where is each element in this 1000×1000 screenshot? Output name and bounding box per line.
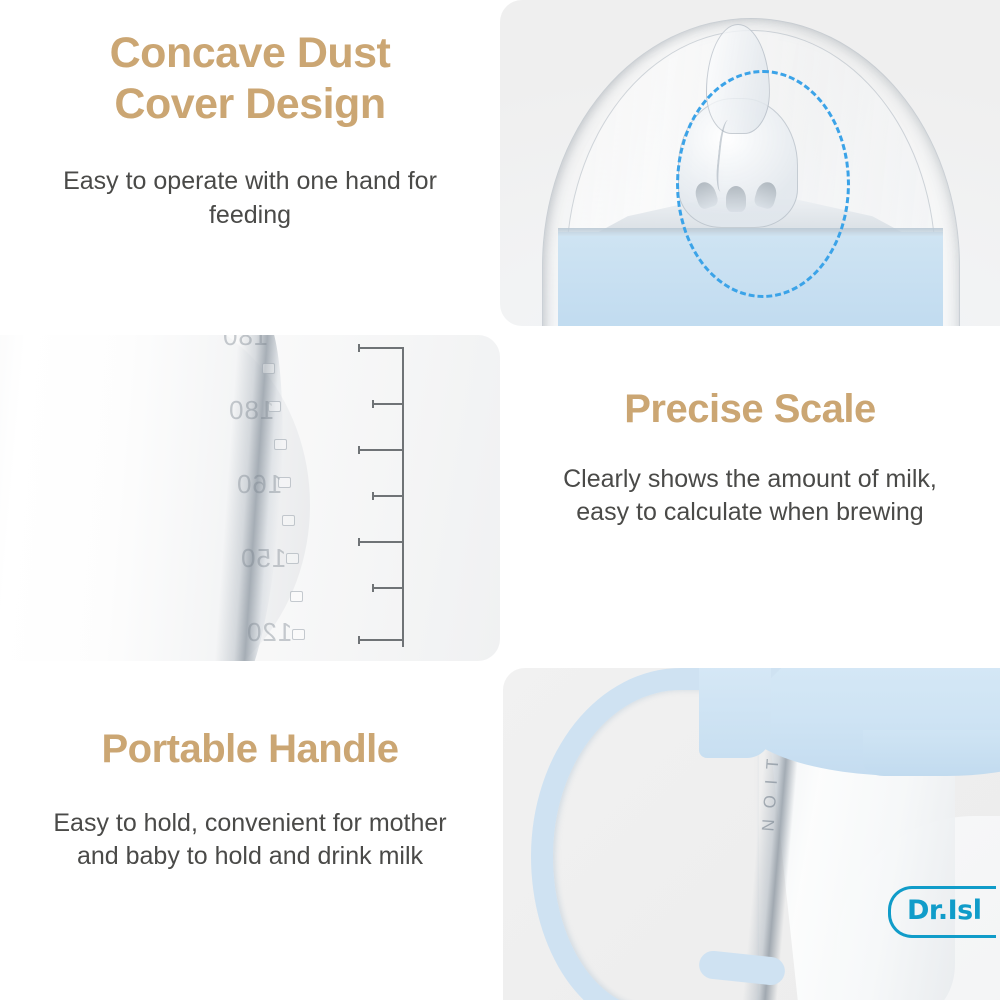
feature-subtext-portable-handle: Easy to hold, convenient for mother and … (0, 807, 500, 874)
handle-mount (699, 668, 771, 758)
feature-headline-portable-handle: Portable Handle (0, 726, 500, 773)
feature-subtext-concave-dust-cover: Easy to operate with one hand for feedin… (0, 165, 500, 232)
bottle-cap-lip (863, 730, 1000, 776)
scale-tick-7 (292, 629, 305, 640)
feature-headline-precise-scale: Precise Scale (500, 386, 1000, 433)
scale-tick-5 (286, 553, 299, 564)
ruler-tick-0 (358, 347, 404, 349)
scale-tick-2 (274, 439, 287, 450)
ruler-tick-6 (358, 639, 404, 641)
scale-tick-6 (290, 591, 303, 602)
ruler-tick-5 (372, 587, 404, 589)
ruler-tick-1 (372, 403, 404, 405)
scale-number-0: 180 (222, 335, 268, 352)
scale-tick-0 (262, 363, 275, 374)
scale-tick-1 (268, 401, 281, 412)
feature-headline-concave-dust-cover: Concave Dust Cover Design (0, 28, 500, 129)
scale-number-3: 150 (240, 543, 286, 574)
feature-text-portable-handle: Portable Handle Easy to hold, convenient… (0, 726, 500, 874)
brand-logo: Dr.Isl (888, 886, 996, 938)
ruler-diagram-icon (362, 347, 430, 647)
ruler-tick-3 (372, 495, 404, 497)
feature-text-precise-scale: Precise Scale Clearly shows the amount o… (500, 386, 1000, 530)
scale-tick-4 (282, 515, 295, 526)
ruler-tick-2 (358, 449, 404, 451)
headline-line-1: Concave Dust (110, 29, 391, 77)
scale-number-2: 160 (236, 469, 282, 500)
highlight-ellipse-icon (676, 70, 850, 298)
scale-tick-3 (278, 477, 291, 488)
product-feature-infographic: Concave Dust Cover Design Easy to operat… (0, 0, 1000, 1000)
feature-subtext-precise-scale: Clearly shows the amount of milk, easy t… (500, 463, 1000, 530)
image-panel-handle-closeup: N O I T Dr.Isl (503, 668, 1000, 1000)
headline-line-2: Cover Design (114, 80, 385, 128)
ruler-spine (402, 347, 404, 647)
ruler-tick-4 (358, 541, 404, 543)
image-panel-nipple-closeup (500, 0, 1000, 326)
feature-text-concave-dust-cover: Concave Dust Cover Design Easy to operat… (0, 28, 500, 232)
image-panel-scale-closeup: 180 180 160 150 120 (0, 335, 500, 661)
scale-number-4: 120 (246, 617, 292, 648)
